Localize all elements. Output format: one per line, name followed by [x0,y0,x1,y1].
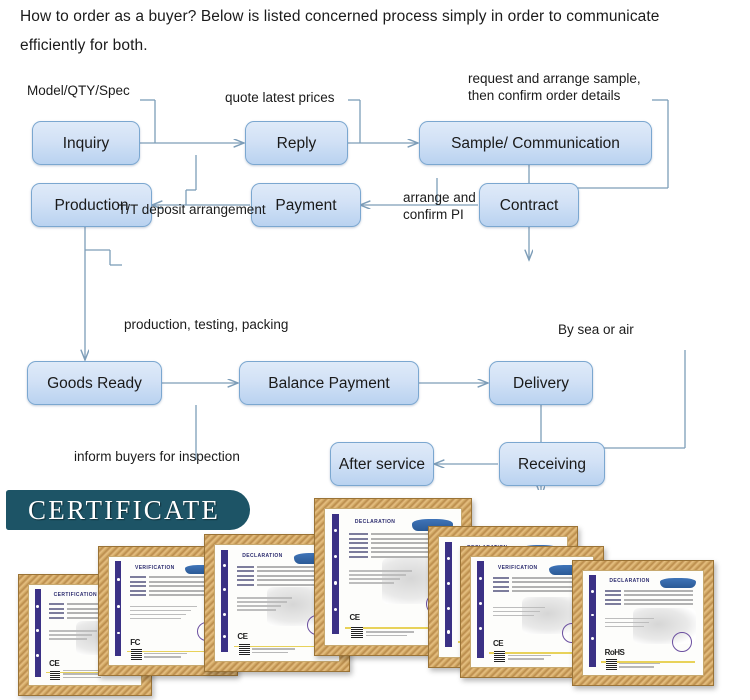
certificate-banner-label: CERTIFICATE [6,495,220,526]
doc-sidebar-6 [477,561,484,658]
doc-mark-7: RoHS [605,648,625,657]
doc-footer-4 [366,631,437,638]
edge-label-tt-deposit: T/T deposit arrangement [118,201,266,218]
doc-qr-3 [239,644,250,655]
flow-node-reply[interactable]: Reply [245,121,348,165]
edge-label-quote-latest-prices: quote latest prices [225,89,335,106]
doc-title-6: VERIFICATION [498,565,538,571]
doc-seal-7 [672,632,692,652]
doc-title-7: DECLARATION [609,578,649,584]
doc-mark-1: CE [49,659,59,668]
flow-node-payment[interactable]: Payment [251,183,361,227]
flow-node-after-service[interactable]: After service [330,442,434,486]
edge-label-arrange-confirm-pi: arrange and confirm PI [403,189,476,223]
doc-footer-2 [144,653,205,660]
edge-label-production-testing: production, testing, packing [124,316,288,333]
doc-logo-7 [660,578,696,587]
edge-label-request-sample: request and arrange sample, then confirm… [468,70,641,104]
doc-sidebar-1 [35,589,41,677]
doc-footer-7 [619,663,681,670]
doc-qr-4 [351,626,363,638]
doc-sidebar-2 [115,561,121,656]
doc-fields-6 [493,577,583,595]
flow-node-balance-payment[interactable]: Balance Payment [239,361,419,405]
doc-sidebar-3 [221,550,228,652]
doc-title-1: CERTIFICATION [54,592,97,598]
doc-title-3: DECLARATION [242,553,282,559]
doc-qr-7 [606,659,617,670]
doc-title-2: VERIFICATION [135,565,175,571]
doc-mark-3: CE [237,632,247,641]
doc-paragraph-6 [493,607,583,619]
page-root: How to order as a buyer? Below is listed… [0,0,750,700]
doc-footer-6 [508,655,571,662]
doc-paragraph-7 [605,618,694,630]
order-process-flowchart: Inquiry Reply Sample/ Communication Cont… [0,60,750,490]
certificate-image-7: DECLARATION RoHS [572,560,714,686]
doc-sidebar-7 [589,575,596,667]
edge-label-model-qty-spec: Model/QTY/Spec [27,82,130,99]
doc-qr-6 [494,651,505,662]
intro-paragraph: How to order as a buyer? Below is listed… [20,2,720,60]
flow-node-sample[interactable]: Sample/ Communication [419,121,652,165]
doc-fields-7 [605,590,694,608]
doc-qr-1 [50,670,60,680]
edge-label-by-sea-or-air: By sea or air [558,321,634,338]
certificate-section: CERTIFICATE CERTIFICATION CE [0,488,750,700]
doc-qr-2 [131,649,142,660]
doc-mark-6: CE [493,639,503,648]
flow-node-delivery[interactable]: Delivery [489,361,593,405]
doc-mark-2: FC [130,638,140,647]
doc-sidebar-5 [445,542,452,648]
flow-node-inquiry[interactable]: Inquiry [32,121,140,165]
doc-title-4: DECLARATION [355,519,395,525]
doc-sidebar-4 [332,514,339,634]
flow-node-goods-ready[interactable]: Goods Ready [27,361,162,405]
doc-footer-3 [252,648,316,655]
edge-label-inform-buyers: inform buyers for inspection [74,448,240,465]
doc-mark-4: CE [349,613,359,622]
flow-node-contract[interactable]: Contract [479,183,579,227]
flow-node-receiving[interactable]: Receiving [499,442,605,486]
certificate-banner: CERTIFICATE [6,490,250,530]
